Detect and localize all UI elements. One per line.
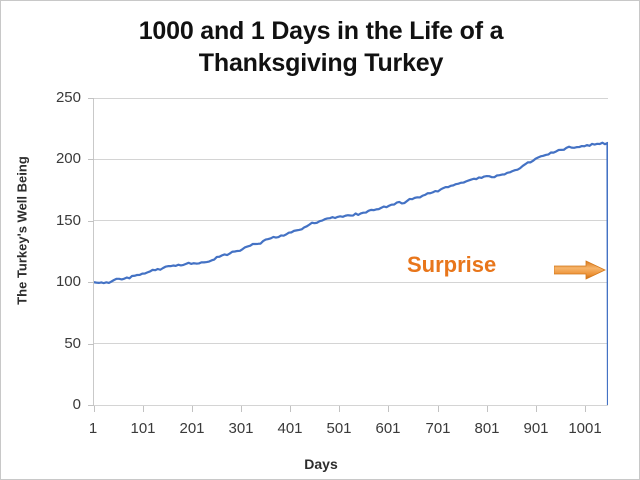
y-tick-label-50: 50 (21, 336, 81, 351)
well-being-line-series (94, 98, 608, 405)
x-tick-301 (241, 406, 242, 412)
y-tick-label-250: 250 (21, 90, 81, 105)
x-tick-201 (192, 406, 193, 412)
x-tick-901 (536, 406, 537, 412)
x-tick-601 (388, 406, 389, 412)
x-axis-title: Days (1, 456, 640, 472)
y-axis-title: The Turkey's Well Being (15, 136, 30, 326)
surprise-annotation-label: Surprise (407, 254, 496, 276)
y-tick-label-0: 0 (21, 397, 81, 412)
right-arrow-icon (554, 260, 606, 280)
x-tick-701 (438, 406, 439, 412)
y-tick-label-100: 100 (21, 274, 81, 289)
gridline-0 (94, 405, 608, 406)
x-tick-101 (143, 406, 144, 412)
y-tick-label-200: 200 (21, 151, 81, 166)
x-tick-501 (339, 406, 340, 412)
x-tick-401 (290, 406, 291, 412)
chart-title-line-1: 1000 and 1 Days in the Life of a (1, 15, 640, 47)
x-tick-801 (487, 406, 488, 412)
x-tick-1001 (585, 406, 586, 412)
plot-area (94, 98, 608, 405)
y-tick-label-150: 150 (21, 213, 81, 228)
x-tick-1 (94, 406, 95, 412)
chart-title: 1000 and 1 Days in the Life of a Thanksg… (1, 15, 640, 79)
chart-title-line-2: Thanksgiving Turkey (1, 47, 640, 79)
chart-container: 1000 and 1 Days in the Life of a Thanksg… (0, 0, 640, 480)
x-tick-label-1001: 1001 (550, 421, 620, 436)
